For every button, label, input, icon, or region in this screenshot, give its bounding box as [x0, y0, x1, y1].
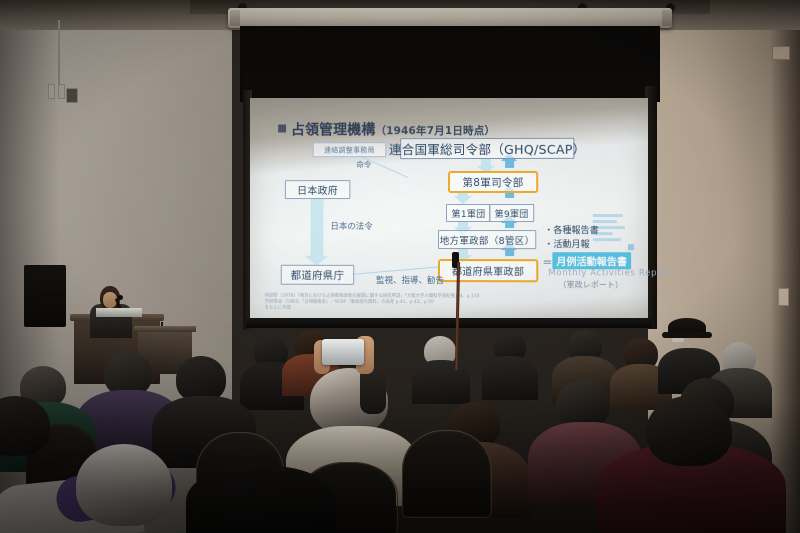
footnote-line: をもとに作成 — [265, 306, 480, 313]
box-regional-military-government: 地方軍政部（8管区） — [438, 230, 536, 249]
highlight-monthly-report: 月例活動報告書 — [552, 252, 631, 269]
box-ninth-corps: 第9軍団 — [489, 204, 534, 222]
square-bullet-icon — [278, 125, 286, 133]
label-order: 命令 — [356, 159, 371, 170]
box-first-corps: 第1軍団 — [446, 204, 491, 222]
monthly-activities-report-english: Monthly Activities Report — [548, 268, 671, 278]
right-wall-edge — [770, 0, 800, 533]
box-liaison-office: 連絡調整事務局 — [313, 142, 386, 157]
audience-foreground-head — [76, 444, 172, 526]
label-japanese-law: 日本の法令 — [330, 220, 372, 232]
lecture-hall-photo: 占領管理機構（1946年7月1日時点） 連絡調整事務局 連合国軍総司令部（GHQ… — [0, 0, 800, 533]
slide-footnote: 阿部彰（1978）「地方における占領教育政策の展開に関する研究序説」『大阪大学人… — [265, 294, 480, 313]
compact-camera[interactable] — [322, 339, 364, 365]
audience-shoulders — [412, 360, 470, 404]
audience-foreground-head — [646, 396, 732, 466]
monthly-activities-report-gloss: （軍政レポート） — [558, 279, 623, 290]
arrow-corps-to-region — [458, 222, 468, 228]
audience-head — [556, 380, 610, 428]
arrow-region-to-corps — [505, 222, 514, 228]
audience-foreground-shoulders — [186, 466, 336, 533]
slide-title-subtitle: （1946年7月1日時点） — [375, 125, 495, 137]
right-wall-vent-icon — [772, 46, 790, 60]
wall-loudspeaker — [24, 265, 66, 327]
bullet-reports: ・各種報告書 — [544, 224, 598, 238]
projected-slide: 占領管理機構（1946年7月1日時点） 連絡調整事務局 連合国軍総司令部（GHQ… — [253, 102, 648, 317]
arrow-ghq-to-eighth-army — [481, 159, 491, 167]
wall-switch-plate[interactable] — [48, 84, 55, 99]
roller-end-cap — [230, 10, 240, 26]
box-eighth-army-hq: 第8軍司令部 — [448, 171, 538, 193]
wall-switch-plate[interactable] — [58, 84, 65, 99]
chair-back-rim — [402, 430, 492, 518]
wall-cable — [58, 20, 60, 86]
roller-end-cap — [662, 10, 672, 26]
box-ghq-scap: 連合国軍総司令部（GHQ/SCAP） — [400, 138, 574, 159]
screen-bottom-bar — [246, 318, 652, 328]
wall-socket[interactable] — [66, 88, 78, 103]
side-equipment-table-top — [134, 326, 196, 332]
right-wall-switch-plate[interactable] — [778, 288, 789, 306]
arrow-prefmil-to-region — [505, 249, 514, 256]
lectern-laptop — [96, 308, 142, 317]
slide-title: 占領管理機構（1946年7月1日時点） — [278, 119, 495, 139]
screen-roller-housing — [228, 8, 672, 28]
box-japanese-government: 日本政府 — [285, 180, 350, 199]
cap-brim — [662, 332, 712, 338]
eyeglasses-icon — [672, 338, 684, 342]
label-supervision: 監視、指導、勧告 — [376, 274, 444, 286]
equals-sign: ＝ — [542, 254, 552, 269]
bullet-monthly-activity: ・活動月報 — [544, 238, 598, 252]
audience-shoulders — [482, 356, 538, 400]
arrow-region-to-prefmil — [458, 249, 468, 256]
slide-title-text: 占領管理機構 — [291, 122, 376, 138]
document-corner-fold-icon — [628, 244, 634, 250]
arrow-eighth-army-to-ghq — [505, 160, 514, 168]
box-prefectural-office: 都道府県庁 — [281, 265, 354, 285]
arrow-japan-gov-to-prefecture — [311, 199, 324, 257]
report-bullets: ・各種報告書 ・活動月報 — [544, 224, 598, 252]
microphone-head-icon — [118, 295, 123, 300]
